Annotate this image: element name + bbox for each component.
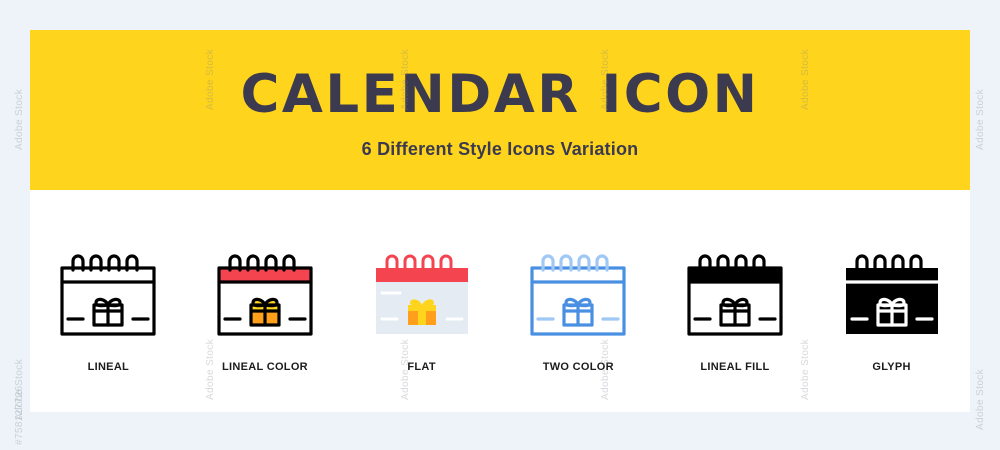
icon-cell-glyph[interactable]: GLYPH	[817, 242, 967, 373]
icon-cell-two-color[interactable]: TWO COLOR	[503, 242, 653, 373]
icon-label-lineal: LINEAL	[88, 361, 130, 373]
icon-set-sheet: CALENDAR ICON 6 Different Style Icons Va…	[30, 30, 970, 412]
header-banner: CALENDAR ICON 6 Different Style Icons Va…	[30, 30, 970, 190]
calendar-gift-two-color-icon	[526, 248, 630, 342]
icon-label-two-color: TWO COLOR	[543, 361, 614, 373]
icon-cell-lineal[interactable]: LINEAL	[33, 242, 183, 373]
calendar-gift-glyph-icon	[840, 248, 944, 342]
calendar-icon-glyph[interactable]	[832, 242, 952, 347]
icon-cell-lineal-color[interactable]: LINEAL COLOR	[190, 242, 340, 373]
watermark-text: Adobe Stock	[14, 89, 25, 150]
calendar-icon-flat[interactable]	[362, 242, 482, 347]
calendar-icon-lineal-fill[interactable]	[675, 242, 795, 347]
page-subtitle: 6 Different Style Icons Variation	[362, 121, 639, 160]
watermark-text: Adobe Stock	[975, 369, 986, 430]
watermark-id: #758127726	[14, 385, 25, 445]
icon-variations-row: LINEAL	[30, 190, 970, 412]
watermark-text: Adobe Stock	[975, 89, 986, 150]
calendar-icon-lineal[interactable]	[48, 242, 168, 347]
icon-label-flat: FLAT	[407, 361, 436, 373]
calendar-gift-flat-icon	[370, 248, 474, 342]
calendar-icon-lineal-color[interactable]	[205, 242, 325, 347]
icon-cell-lineal-fill[interactable]: LINEAL FILL	[660, 242, 810, 373]
page-title: CALENDAR ICON	[240, 60, 759, 121]
icon-cell-flat[interactable]: FLAT	[347, 242, 497, 373]
calendar-gift-lineal-icon	[56, 248, 160, 342]
calendar-icon-two-color[interactable]	[518, 242, 638, 347]
icon-label-lineal-color: LINEAL COLOR	[222, 361, 308, 373]
watermark-text: Adobe Stock	[14, 359, 25, 420]
calendar-gift-lineal-fill-icon	[683, 248, 787, 342]
icon-label-lineal-fill: LINEAL FILL	[700, 361, 769, 373]
icon-label-glyph: GLYPH	[872, 361, 910, 373]
calendar-gift-lineal-color-icon	[213, 248, 317, 342]
